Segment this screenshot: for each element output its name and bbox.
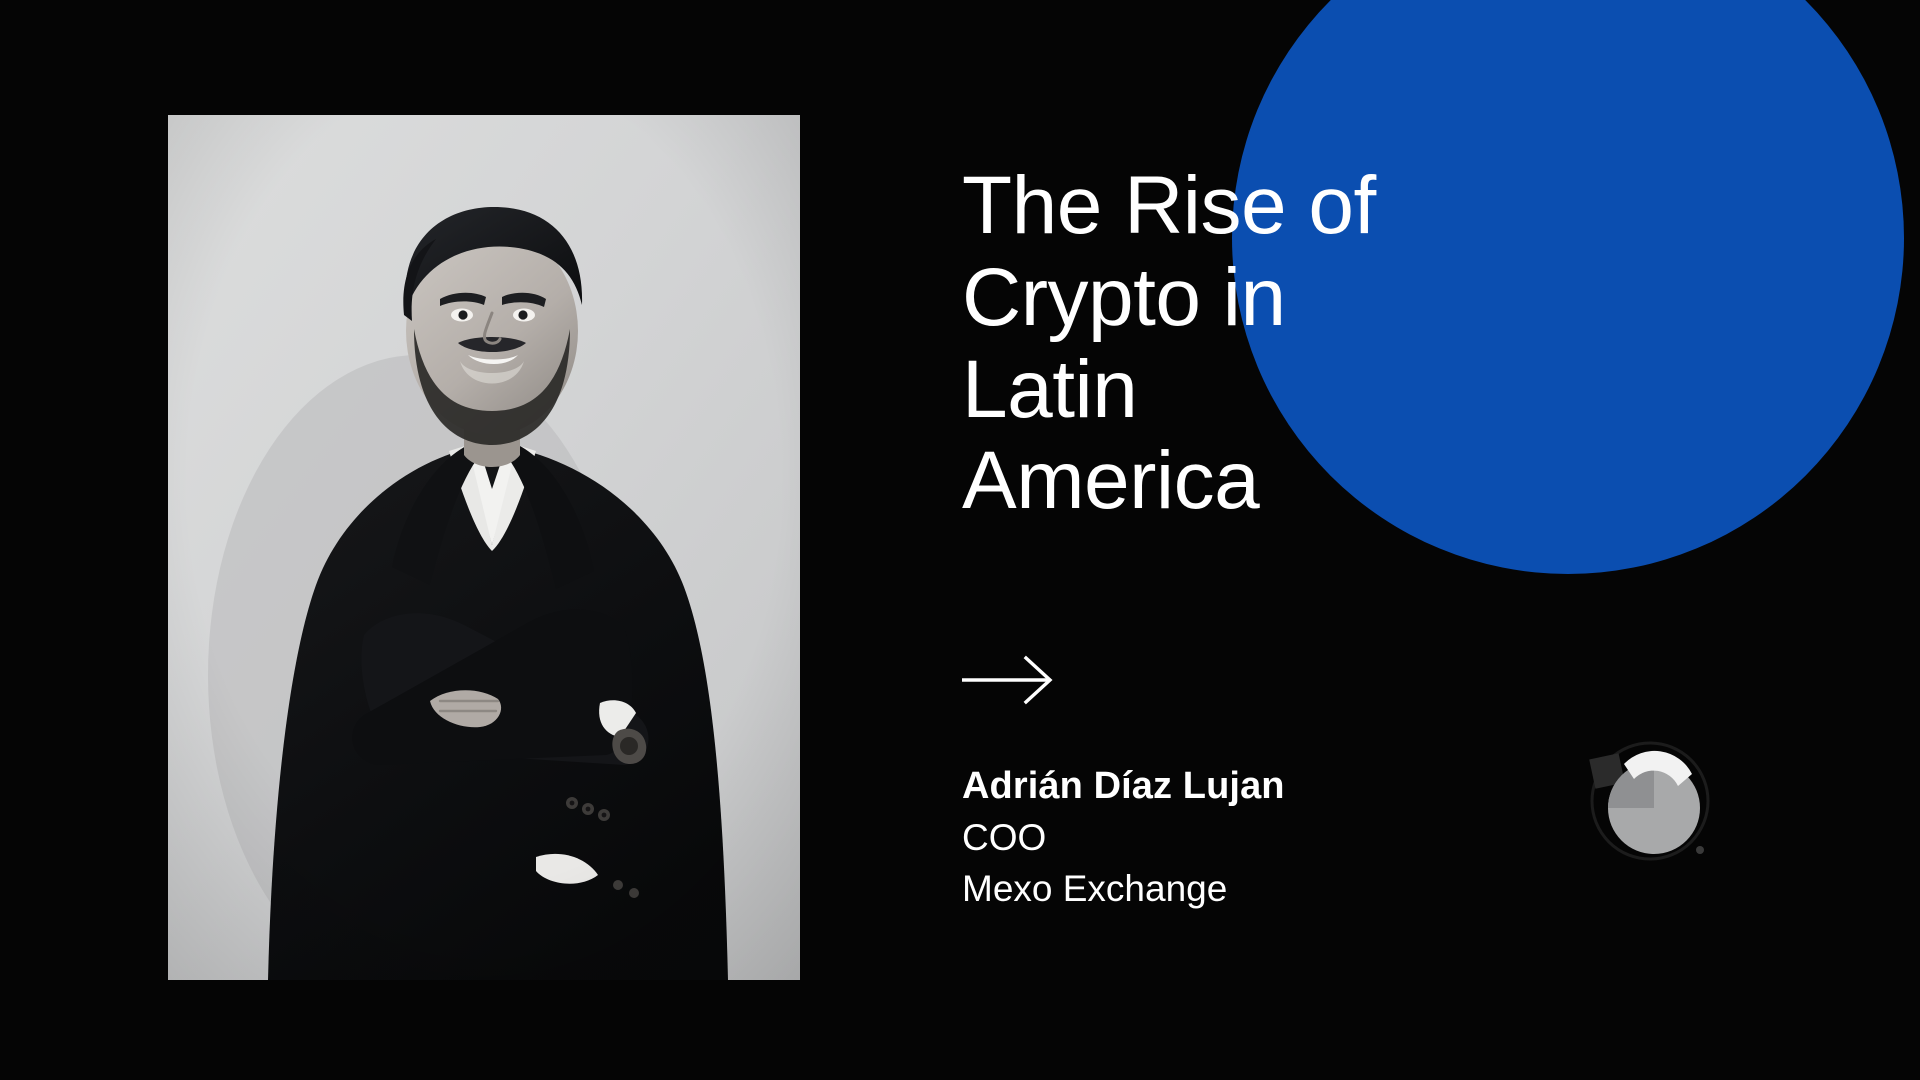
speaker-announcement-card: The Rise of Crypto in Latin America Adri…	[0, 0, 1920, 1080]
talk-title: The Rise of Crypto in Latin America	[962, 160, 1522, 527]
speaker-role: COO	[962, 812, 1662, 863]
speaker-details: Adrián Díaz Lujan COO Mexo Exchange	[962, 760, 1662, 915]
speaker-portrait	[168, 115, 800, 980]
arrow-right-icon	[962, 650, 1058, 710]
speaker-company: Mexo Exchange	[962, 863, 1662, 914]
speaker-name: Adrián Díaz Lujan	[962, 760, 1662, 812]
company-logo-mark	[1572, 738, 1732, 868]
content-column: The Rise of Crypto in Latin America Adri…	[962, 0, 1842, 1080]
